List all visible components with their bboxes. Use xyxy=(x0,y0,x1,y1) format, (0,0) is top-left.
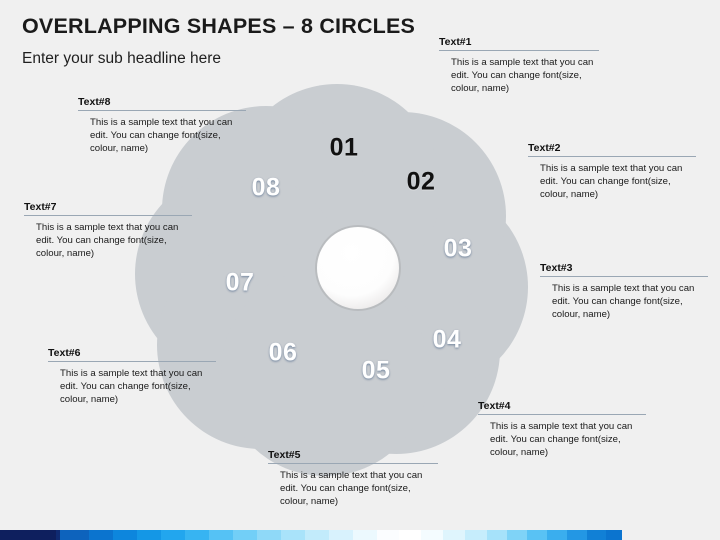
bottom-bar-segment xyxy=(421,530,443,540)
petal-label-01: 01 xyxy=(330,134,359,163)
bottom-bar-segment xyxy=(185,530,209,540)
callout-body: This is a sample text that you can edit.… xyxy=(24,221,192,261)
bottom-gradient-bar xyxy=(0,530,720,540)
callout-heading: Text#5 xyxy=(268,449,438,463)
petal-label-03: 03 xyxy=(444,235,473,264)
bottom-bar-segment xyxy=(547,530,567,540)
callout-text4[interactable]: Text#4 This is a sample text that you ca… xyxy=(478,400,646,460)
slide-canvas: OVERLAPPING SHAPES – 8 CIRCLES Enter you… xyxy=(0,0,720,540)
callout-text3[interactable]: Text#3 This is a sample text that you ca… xyxy=(540,262,708,322)
page-subtitle: Enter your sub headline here xyxy=(22,50,221,68)
petal-label-04: 04 xyxy=(433,326,462,355)
petal-label-07: 07 xyxy=(226,269,255,298)
callout-heading: Text#7 xyxy=(24,201,192,215)
bottom-bar-segment xyxy=(161,530,185,540)
callout-heading: Text#3 xyxy=(540,262,708,276)
bottom-bar-segment xyxy=(606,530,622,540)
callout-rule xyxy=(478,414,646,415)
bottom-bar-segment xyxy=(399,530,421,540)
callout-body: This is a sample text that you can edit.… xyxy=(528,162,696,202)
bottom-bar-segment xyxy=(377,530,399,540)
petal-label-05: 05 xyxy=(362,357,391,386)
callout-body: This is a sample text that you can edit.… xyxy=(540,282,708,322)
petal-01[interactable] xyxy=(233,84,441,292)
callout-rule xyxy=(268,463,438,464)
callout-body: This is a sample text that you can edit.… xyxy=(268,469,438,509)
bottom-bar-segment xyxy=(89,530,113,540)
callout-text7[interactable]: Text#7 This is a sample text that you ca… xyxy=(24,201,192,261)
callout-rule xyxy=(48,361,216,362)
bottom-bar-segment xyxy=(137,530,161,540)
callout-text2[interactable]: Text#2 This is a sample text that you ca… xyxy=(528,142,696,202)
bottom-bar-segment xyxy=(0,530,56,540)
petal-06[interactable] xyxy=(157,241,365,449)
callout-rule xyxy=(439,50,599,51)
callout-body: This is a sample text that you can edit.… xyxy=(439,56,599,96)
page-title: OVERLAPPING SHAPES – 8 CIRCLES xyxy=(22,14,415,39)
callout-text5[interactable]: Text#5 This is a sample text that you ca… xyxy=(268,449,438,509)
petal-label-02: 02 xyxy=(407,168,436,197)
bottom-bar-segment xyxy=(233,530,257,540)
callout-heading: Text#2 xyxy=(528,142,696,156)
bottom-bar-segment xyxy=(60,530,89,540)
callout-body: This is a sample text that you can edit.… xyxy=(78,116,246,156)
petal-label-08: 08 xyxy=(252,174,281,203)
bottom-bar-segment xyxy=(587,530,606,540)
callout-rule xyxy=(528,156,696,157)
bottom-bar-segment xyxy=(507,530,527,540)
bottom-bar-segment xyxy=(527,530,547,540)
petal-label-06: 06 xyxy=(269,339,298,368)
callout-heading: Text#8 xyxy=(78,96,246,110)
callout-heading: Text#1 xyxy=(439,36,599,50)
petal-04[interactable] xyxy=(292,246,500,454)
callout-heading: Text#4 xyxy=(478,400,646,414)
bottom-bar-segment xyxy=(487,530,507,540)
bottom-bar-segment xyxy=(443,530,465,540)
callout-heading: Text#6 xyxy=(48,347,216,361)
callout-text1[interactable]: Text#1 This is a sample text that you ca… xyxy=(439,36,599,96)
petal-05[interactable] xyxy=(221,268,429,476)
callout-rule xyxy=(78,110,246,111)
bottom-bar-segment xyxy=(305,530,329,540)
callout-body: This is a sample text that you can edit.… xyxy=(48,367,216,407)
bottom-bar-segment xyxy=(329,530,353,540)
callout-rule xyxy=(540,276,708,277)
petal-03[interactable] xyxy=(320,183,528,391)
center-hub[interactable] xyxy=(315,225,401,311)
bottom-bar-segment xyxy=(113,530,137,540)
bottom-bar-segment xyxy=(567,530,587,540)
callout-rule xyxy=(24,215,192,216)
petal-02[interactable] xyxy=(298,112,506,320)
callout-text8[interactable]: Text#8 This is a sample text that you ca… xyxy=(78,96,246,156)
callout-body: This is a sample text that you can edit.… xyxy=(478,420,646,460)
bottom-bar-segment xyxy=(465,530,487,540)
bottom-bar-segment xyxy=(353,530,377,540)
callout-text6[interactable]: Text#6 This is a sample text that you ca… xyxy=(48,347,216,407)
bottom-bar-segment xyxy=(257,530,281,540)
bottom-bar-segment xyxy=(281,530,305,540)
bottom-bar-segment xyxy=(209,530,233,540)
